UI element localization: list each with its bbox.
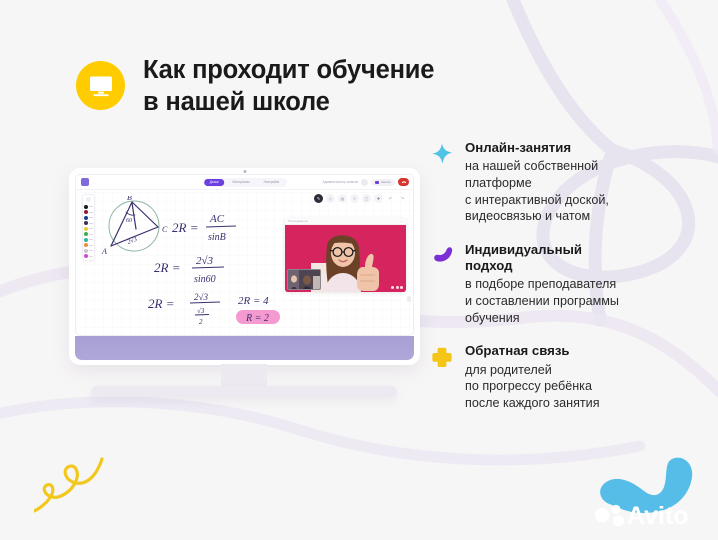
avito-wordmark: Avito xyxy=(627,502,689,530)
feature-title: Обратная связь xyxy=(465,343,708,359)
tab-board[interactable]: Доска xyxy=(204,179,225,186)
record-square-icon xyxy=(375,181,379,184)
palette-row xyxy=(84,205,94,209)
palette-row xyxy=(84,254,94,258)
eq3-den-num: √3 xyxy=(197,307,205,315)
swatch-line xyxy=(89,245,93,246)
avito-dots-icon xyxy=(595,505,624,527)
pip-illustration xyxy=(288,270,321,290)
add-icon[interactable]: ✚ xyxy=(374,194,383,203)
undo-icon[interactable]: ↶ xyxy=(386,194,395,203)
feature-description: для родителей по прогрессу ребёнка после… xyxy=(465,362,708,412)
dot xyxy=(400,286,403,289)
palette-row xyxy=(84,243,94,247)
triangle-median xyxy=(132,203,136,229)
palette-row xyxy=(84,249,94,253)
monitor-mockup: Доска Материалы Настройки Администратор … xyxy=(69,168,420,418)
text-icon[interactable]: ≡ xyxy=(350,194,359,203)
poster-root: Как проходит обучение в нашей школе Доск… xyxy=(0,0,718,540)
palette-row xyxy=(84,210,94,214)
pen-icon[interactable]: ✎ xyxy=(314,194,323,203)
eq1-den: sinB xyxy=(208,232,226,243)
note-icon[interactable]: ▤ xyxy=(338,194,347,203)
triangle-side-bc xyxy=(132,202,158,227)
swatch-line xyxy=(89,223,93,224)
avito-logo: Avito xyxy=(582,453,710,531)
eraser-icon[interactable]: ◇ xyxy=(326,194,335,203)
swatch-line xyxy=(89,250,93,251)
squiggle-icon xyxy=(34,457,108,519)
swirl-stroke-1 xyxy=(505,0,612,150)
result-2r: 2R = 4 xyxy=(238,295,269,307)
feature-text: Индивидуальный подход в подборе преподав… xyxy=(465,242,708,326)
user-label: Администратор занятия xyxy=(323,180,359,184)
app-tabs[interactable]: Доска Материалы Настройки xyxy=(202,178,288,187)
feature-item-online: Онлайн-занятия на нашей собственной плат… xyxy=(430,140,708,225)
page-title: Как проходит обучение в нашей школе xyxy=(143,54,434,118)
avatar[interactable] xyxy=(361,179,368,186)
palette-row xyxy=(84,238,94,242)
star-marker-icon xyxy=(430,142,454,166)
header-badge xyxy=(76,61,125,110)
result-r: R = 2 xyxy=(245,313,269,324)
feature-item-feedback: Обратная связь для родителей по прогресс… xyxy=(430,343,708,411)
feature-item-individual: Индивидуальный подход в подборе преподав… xyxy=(430,242,708,326)
video-title: Преподаватель xyxy=(288,219,308,223)
label-a: A xyxy=(101,247,107,256)
color-palette[interactable] xyxy=(82,194,95,261)
swatch-maroon[interactable] xyxy=(84,210,88,214)
crescent-marker-icon xyxy=(430,244,454,268)
dot xyxy=(396,286,399,289)
swatch-line xyxy=(89,256,93,257)
eq2-left: 2R = xyxy=(154,260,180,275)
feature-marker xyxy=(430,140,456,225)
yellow-squiggle-decoration xyxy=(34,457,108,524)
feature-description: в подборе преподавателя и составлении пр… xyxy=(465,276,708,326)
palette-lock-icon xyxy=(86,197,91,202)
monitor-stand-neck xyxy=(221,364,267,388)
swatch-blue[interactable] xyxy=(84,216,88,220)
swatch-line xyxy=(89,212,93,213)
swatch-black[interactable] xyxy=(84,205,88,209)
swatch-darkpurple[interactable] xyxy=(84,221,88,225)
app-topbar: Доска Материалы Настройки Администратор … xyxy=(76,175,413,190)
swatch-line xyxy=(89,217,93,218)
end-call-button[interactable] xyxy=(398,178,409,186)
board-toolbar[interactable]: ✎ ◇ ▤ ≡ ▢ ✚ ↶ ↷ xyxy=(314,194,407,203)
monitor-chin xyxy=(75,336,414,360)
dot xyxy=(391,286,394,289)
avito-watermark: Avito xyxy=(582,453,710,536)
swatch-orange[interactable] xyxy=(84,243,88,247)
label-side: 2√3 xyxy=(126,235,139,246)
handwritten-math: B A C 60 2√3 2R = AC sinB xyxy=(96,196,306,336)
label-angle: 60 xyxy=(126,218,132,224)
feature-marker xyxy=(430,343,456,411)
label-c: C xyxy=(162,225,168,234)
monitor-stand-base xyxy=(91,386,397,397)
app-logo-icon xyxy=(81,178,89,186)
feature-marker xyxy=(430,242,456,326)
features-list: Онлайн-занятия на нашей собственной плат… xyxy=(430,140,708,412)
record-chip-label: Запись xyxy=(381,180,391,184)
swatch-yellow[interactable] xyxy=(84,227,88,231)
app-topbar-right: Администратор занятия Запись xyxy=(323,178,409,186)
palette-row xyxy=(84,216,94,220)
video-panel-header: Преподаватель ⌄ xyxy=(285,218,406,225)
eq3-den-den: 2 xyxy=(199,318,203,326)
eq3-fraction-bar xyxy=(190,302,220,303)
swatch-gray[interactable] xyxy=(84,249,88,253)
phone-hangup-icon xyxy=(401,179,407,185)
webcam-dot xyxy=(243,170,246,173)
video-panel[interactable]: Преподаватель ⌄ xyxy=(285,218,406,292)
swatch-magenta[interactable] xyxy=(84,254,88,258)
swirl-stroke-3 xyxy=(660,0,718,150)
eq1-left: 2R = xyxy=(172,220,198,235)
video-stage xyxy=(285,225,406,292)
feature-description: на нашей собственной платформе с интерак… xyxy=(465,158,708,225)
swatch-line xyxy=(89,206,93,207)
board-scrollbar[interactable] xyxy=(407,296,411,302)
more-dots-icon[interactable] xyxy=(391,286,403,289)
feature-title: Онлайн-занятия xyxy=(465,140,708,156)
record-chip[interactable]: Запись xyxy=(371,179,395,186)
tab-settings[interactable]: Настройки xyxy=(258,179,286,186)
eq1-fraction-bar xyxy=(206,226,236,227)
swatch-line xyxy=(89,239,93,240)
eq3-num: 2√3 xyxy=(194,292,208,302)
label-b: B xyxy=(127,196,132,202)
eq3-inner-bar xyxy=(195,315,209,316)
redo-icon[interactable]: ↷ xyxy=(398,194,407,203)
feature-text: Обратная связь для родителей по прогресс… xyxy=(465,343,708,411)
tab-materials[interactable]: Материалы xyxy=(227,179,256,186)
video-collapse-icon[interactable]: ⌄ xyxy=(401,219,403,223)
monitor-icon xyxy=(88,75,114,97)
palette-row xyxy=(84,232,94,236)
shape-icon[interactable]: ▢ xyxy=(362,194,371,203)
feature-text: Онлайн-занятия на нашей собственной плат… xyxy=(465,140,708,225)
eq3-left: 2R = xyxy=(148,296,174,311)
palette-row xyxy=(84,227,94,231)
app-window: Доска Материалы Настройки Администратор … xyxy=(75,174,414,336)
swatch-green[interactable] xyxy=(84,232,88,236)
feature-title: Индивидуальный подход xyxy=(465,242,708,274)
swatch-line xyxy=(89,234,93,235)
whiteboard-canvas[interactable]: ✎ ◇ ▤ ≡ ▢ ✚ ↶ ↷ xyxy=(76,190,413,336)
header: Как проходит обучение в нашей школе xyxy=(76,54,434,118)
pip-student-video[interactable] xyxy=(287,269,321,290)
swatch-teal[interactable] xyxy=(84,238,88,242)
eq2-fraction-bar xyxy=(192,267,224,268)
eq1-num: AC xyxy=(209,213,225,225)
eq2-num: 2√3 xyxy=(196,255,214,267)
swatch-line xyxy=(89,228,93,229)
palette-row xyxy=(84,221,94,225)
plus-marker-icon xyxy=(430,345,454,369)
eq2-den: sin60 xyxy=(194,274,216,285)
